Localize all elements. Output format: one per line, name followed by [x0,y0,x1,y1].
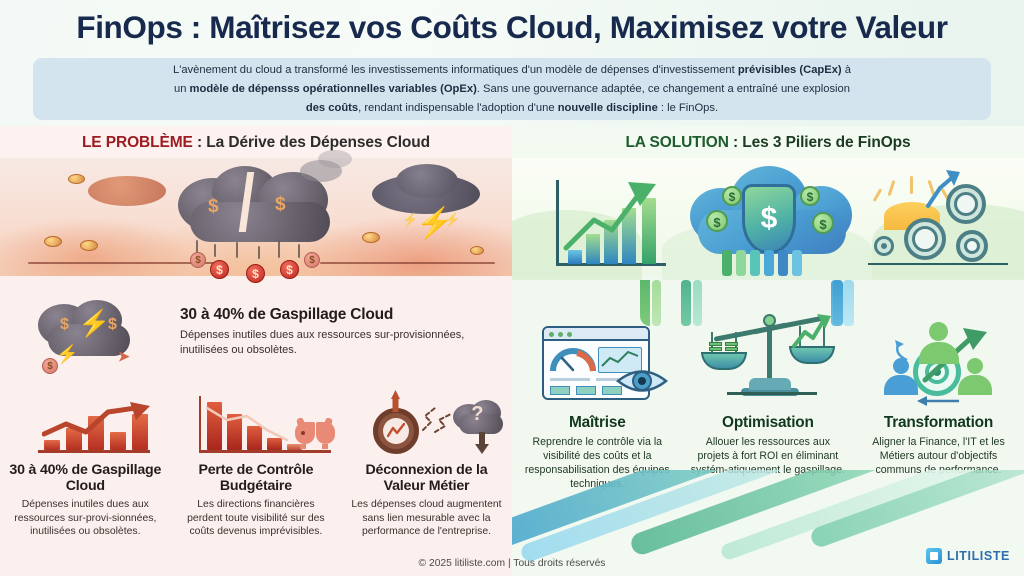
dashboard-gauge-eye-icon [520,302,675,414]
intro-line-2-bold: modèle de dépensss opérationnelles varia… [190,83,477,95]
problem-card-title: Perte de Contrôle Budgétaire [179,462,334,494]
problem-sep: : [193,134,206,151]
falling-bar-chart-piggybank-icon [179,384,334,462]
intro-paragraph-band: L'avènement du cloud a transformé les in… [33,58,991,120]
solution-sep: : [729,134,742,151]
background-cloud-icon [88,176,166,206]
intro-line-3-text-b: , rendant indispensable l'adoption d'une [358,102,558,114]
page-title: FinOps : Maîtrisez vos Coûts Cloud, Maxi… [0,9,1024,46]
waste-storm-icon: $ $ ⚡ ⚡ $ ➤ [22,300,172,380]
brand-logo[interactable]: LITILISTE [926,548,1010,564]
waste-body: Dépenses inutiles dues aux ressources su… [180,328,500,358]
intro-line-2-text-c: . Sans une gouvernance adaptée, ce chang… [477,83,850,95]
problem-card-title: 30 à 40% de Gaspillage Cloud [8,462,163,494]
problem-card-budget[interactable]: Perte de Contrôle Budgétaire Les directi… [171,384,342,576]
intro-line-2-text-a: un [174,83,190,95]
intro-line-1-bold: prévisibles (CapEx) [738,64,842,76]
problem-section-title: LE PROBLÈME : La Dérive des Dépenses Clo… [0,134,512,152]
infographic-poster: FinOps : Maîtrisez vos Coûts Cloud, Maxi… [0,0,1024,576]
money-node-icon: $ [706,210,728,232]
pillar-title: Maîtrise [520,414,675,432]
waste-callout-row: $ $ ⚡ ⚡ $ ➤ 30 à 40% de Gaspillage Cloud… [0,278,512,383]
pillar-title: Optimisation [691,414,846,432]
intro-line-1: L'avènement du cloud a transformé les in… [173,61,851,80]
intro-line-3-text-d: : le FinOps. [658,102,718,114]
solution-label: LA SOLUTION [625,134,728,151]
rising-bar-chart-icon [8,384,163,462]
brand-name: LITILISTE [947,549,1010,563]
waste-callout-text: 30 à 40% de Gaspillage Cloud Dépenses in… [180,306,500,358]
problem-card-body: Les dépenses cloud augmentent sans lien … [349,498,504,539]
intro-line-1-text-c: à [842,64,851,76]
problem-cards: 30 à 40% de Gaspillage Cloud Dépenses in… [0,384,512,576]
pillar-title: Transformation [861,414,1016,432]
intro-line-3-bold-a: des coûts [306,102,358,114]
falling-coin-icon [68,174,85,184]
broken-gear-cloud-icon: ? [349,384,504,462]
eye-icon [616,364,668,398]
intro-line-3: des coûts, rendant indispensable l'adopt… [306,99,718,118]
problem-label: LE PROBLÈME [82,134,193,151]
waste-heading: 30 à 40% de Gaspillage Cloud [180,306,500,324]
solution-section-title: LA SOLUTION : Les 3 Piliers de FinOps [512,134,1024,152]
storm-cloud-money-rain-illustration: $ $ ⚡ ⚡ ⚡ $ $ $ $ $ [0,158,512,276]
intro-line-1-text-a: L'avènement du cloud a transformé les in… [173,64,738,76]
shield-icon: $ [742,184,796,254]
copyright-text: © 2025 litiliste.com | Tous droits réser… [0,558,1024,569]
litiliste-logo-icon [926,548,942,564]
solution-subtitle: Les 3 Piliers de FinOps [742,134,910,151]
team-target-alignment-icon [861,302,1016,414]
problem-card-body: Les directions financières perdent toute… [179,498,334,539]
problem-panel: LE PROBLÈME : La Dérive des Dépenses Clo… [0,126,512,576]
intro-line-3-bold-c: nouvelle discipline [558,102,658,114]
problem-card-value[interactable]: ? Déconnexion de la Valeur Métier Les dé… [341,384,512,576]
intro-line-2: un modèle de dépensss opérationnelles va… [174,80,850,99]
header-band: FinOps : Maîtrisez vos Coûts Cloud, Maxi… [0,0,1024,130]
balance-scale-growth-icon [691,302,846,414]
problem-subtitle: La Dérive des Dépenses Cloud [206,134,430,151]
problem-card-title: Déconnexion de la Valeur Métier [349,462,504,494]
problem-card-body: Dépenses inutiles dues aux ressources su… [8,498,163,539]
cloud-shield-growth-illustration: $ $ $ $ $ [512,158,1024,276]
problem-card-waste[interactable]: 30 à 40% de Gaspillage Cloud Dépenses in… [0,384,171,576]
